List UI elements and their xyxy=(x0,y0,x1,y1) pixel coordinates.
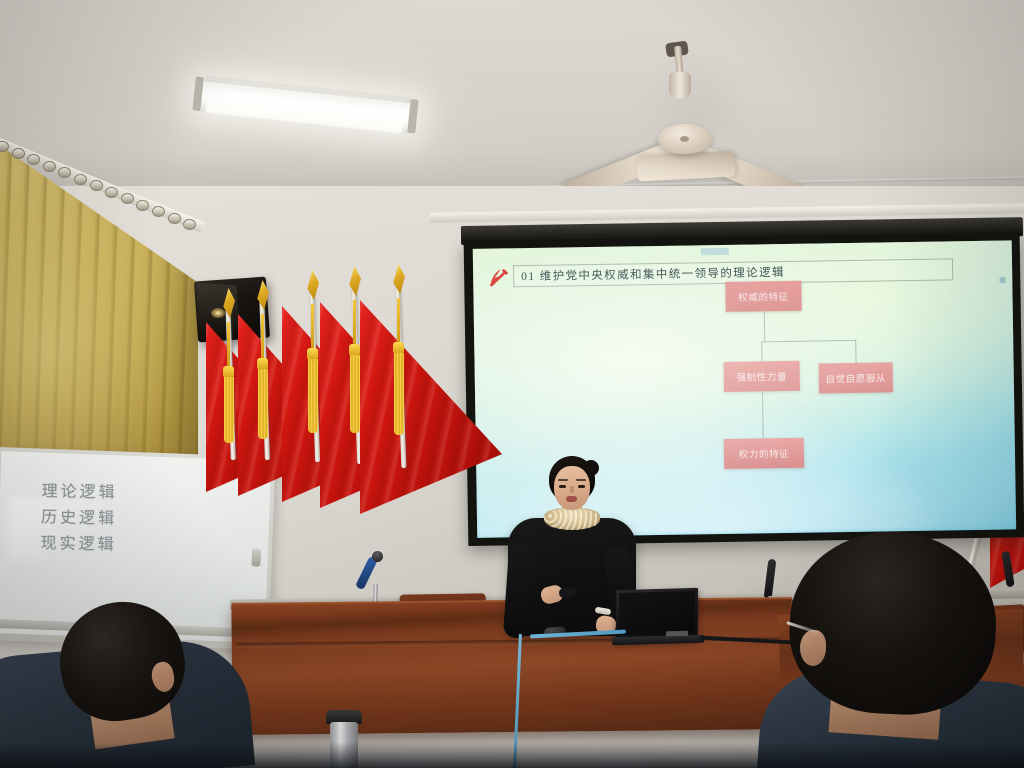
curtain-grommet xyxy=(168,213,181,224)
presenter-eye xyxy=(559,485,566,488)
flag-tassel xyxy=(308,359,318,433)
slide-tab-marker xyxy=(701,248,729,255)
presenter-eye xyxy=(578,485,585,488)
curtain-grommet xyxy=(105,187,118,198)
whiteboard-clip xyxy=(251,548,261,566)
presenter-collar-lace xyxy=(544,510,600,530)
whiteboard-line: 历史逻辑 xyxy=(41,505,118,532)
presenter-brow xyxy=(558,479,568,481)
diagram-node-label: 权力的特征 xyxy=(739,446,790,461)
laptop-trackpad xyxy=(666,631,688,637)
ceiling-fan-icon xyxy=(556,38,806,178)
flag-tassel xyxy=(258,369,268,439)
light-tube-inner xyxy=(205,95,404,134)
presenter-mouth xyxy=(566,496,577,502)
diagram-node-bottom: 权力的特征 xyxy=(724,438,804,469)
curtain-grommet xyxy=(90,180,103,191)
flag-tassel xyxy=(350,355,360,433)
slide-diagram: 权威的特征强制性力量自觉自愿服从权力的特征 xyxy=(473,240,1012,248)
fan-blade xyxy=(635,151,736,182)
presenter-brow xyxy=(576,479,586,481)
foreground-shadow xyxy=(0,742,1024,768)
presenter-nose xyxy=(570,486,574,493)
curtain-grommet xyxy=(43,161,56,172)
fan-hub-screw xyxy=(680,136,689,142)
curtain-grommet xyxy=(136,200,149,211)
diagram-node-right: 自觉自愿服从 xyxy=(819,362,893,393)
whiteboard-line: 理论逻辑 xyxy=(41,479,118,506)
connector-to-right xyxy=(855,340,856,363)
classroom-scene: 01 维护党中央权威和集中统一领导的理论逻辑 权威的特征强制性力量自觉自愿服从权… xyxy=(0,0,1024,768)
connector-root-down xyxy=(764,311,765,341)
fan-canopy xyxy=(669,72,691,98)
flag-tassel-cord xyxy=(261,314,264,362)
wall-speaker-glint xyxy=(211,308,225,318)
diagram-node-root: 权威的特征 xyxy=(725,281,801,312)
connector-to-left xyxy=(761,341,762,361)
diagram-node-left: 强制性力量 xyxy=(724,361,800,392)
flag-tassel-cord xyxy=(397,298,400,346)
curtain-grommet xyxy=(121,193,134,204)
flag-tassel-cord xyxy=(311,304,314,352)
projection-screen[interactable]: 01 维护党中央权威和集中统一领导的理论逻辑 权威的特征强制性力量自觉自愿服从权… xyxy=(464,232,1024,546)
diagram-node-label: 自觉自愿服从 xyxy=(825,370,886,385)
whiteboard-handwriting: 理论逻辑 历史逻辑 现实逻辑 xyxy=(40,479,117,558)
hammer-and-sickle-party-emblem xyxy=(485,265,511,289)
curtain-grommet xyxy=(152,206,165,217)
flag-tassel xyxy=(394,353,404,435)
connector-horizontal xyxy=(761,340,855,342)
slide-corner-dot xyxy=(999,277,1006,284)
curtain-grommet xyxy=(74,174,87,185)
flag-tassel xyxy=(224,377,234,443)
laptop-screen xyxy=(619,591,695,635)
whiteboard-line: 现实逻辑 xyxy=(40,531,117,558)
flag-tassel-cord xyxy=(353,300,356,348)
audience-right-ear xyxy=(800,630,826,666)
diagram-node-label: 强制性力量 xyxy=(736,369,787,384)
curtain-grommet xyxy=(12,148,25,159)
diagram-node-label: 权威的特征 xyxy=(738,289,789,304)
flag-tassel-cord xyxy=(227,322,230,370)
